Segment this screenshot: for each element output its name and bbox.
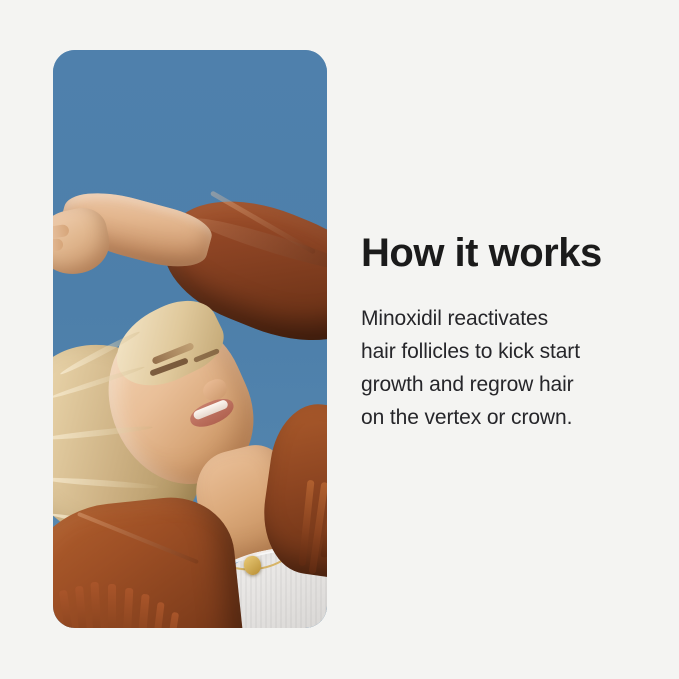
body-line: on the vertex or crown. — [361, 401, 647, 434]
text-block: How it works Minoxidil reactivates hair … — [361, 232, 647, 434]
lifestyle-photo — [53, 50, 327, 628]
photo-card — [53, 50, 327, 628]
body-line: hair follicles to kick start — [361, 335, 647, 368]
body-line: growth and regrow hair — [361, 368, 647, 401]
page-title: How it works — [361, 232, 647, 274]
body-copy: Minoxidil reactivates hair follicles to … — [361, 274, 647, 434]
promo-panel: How it works Minoxidil reactivates hair … — [0, 0, 679, 679]
body-line: Minoxidil reactivates — [361, 302, 647, 335]
jacket-fringe — [108, 584, 116, 628]
